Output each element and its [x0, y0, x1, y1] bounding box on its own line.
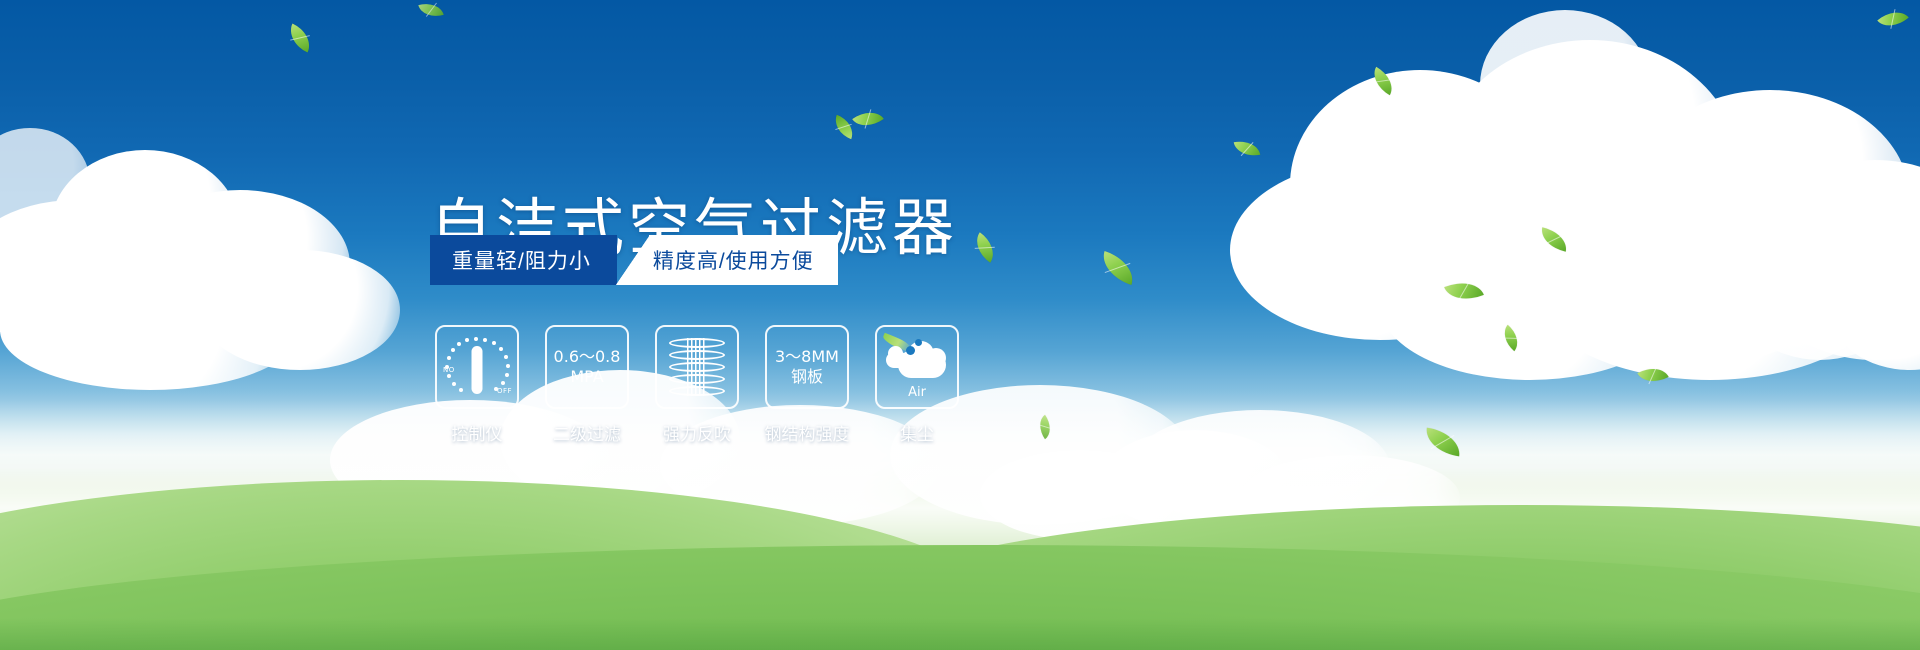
- feature-item-dust: Air 集尘: [875, 325, 959, 445]
- feature-box: [655, 325, 739, 409]
- steel-thickness: 3～8MM: [775, 347, 839, 367]
- feature-item-pressure: 0.6～0.8 MPA 二级过滤: [545, 325, 629, 445]
- feature-icon-row: NO OFF 控制仪 0.6～0.8 MPA 二级过滤: [435, 325, 959, 445]
- steel-material: 钢板: [775, 367, 839, 387]
- feature-item-controller: NO OFF 控制仪: [435, 325, 519, 445]
- feature-box: 0.6～0.8 MPA: [545, 325, 629, 409]
- tag-primary: 重量轻/阻力小: [430, 235, 617, 285]
- feature-item-backblow: 强力反吹: [655, 325, 739, 445]
- feature-box: Air: [875, 325, 959, 409]
- gauge-off-label: OFF: [497, 387, 512, 395]
- tag-divider: [616, 235, 650, 285]
- feature-label: 集尘: [900, 420, 934, 445]
- air-cloud-icon: Air: [884, 336, 950, 398]
- air-label: Air: [884, 385, 950, 400]
- filter-coil-icon: [669, 336, 725, 398]
- feature-box: 3～8MM 钢板: [765, 325, 849, 409]
- pressure-text-icon: 0.6～0.8 MPA: [554, 347, 621, 387]
- feature-label: 二级过滤: [553, 420, 621, 445]
- feature-box: NO OFF: [435, 325, 519, 409]
- feature-label: 控制仪: [452, 420, 503, 445]
- hero-banner: 自洁式空气过滤器 重量轻/阻力小 精度高/使用方便: [0, 0, 1920, 650]
- pressure-value: 0.6～0.8: [554, 347, 621, 367]
- tagline-group: 重量轻/阻力小 精度高/使用方便: [430, 235, 838, 285]
- pressure-unit: MPA: [554, 367, 621, 387]
- feature-label: 钢结构强度: [765, 420, 850, 445]
- gauge-dial-icon: NO OFF: [444, 336, 510, 398]
- feature-label: 强力反吹: [663, 420, 731, 445]
- tag-secondary: 精度高/使用方便: [649, 235, 838, 285]
- gauge-on-label: NO: [443, 366, 455, 374]
- feature-item-steel: 3～8MM 钢板 钢结构强度: [765, 325, 849, 445]
- steel-plate-text-icon: 3～8MM 钢板: [775, 347, 839, 387]
